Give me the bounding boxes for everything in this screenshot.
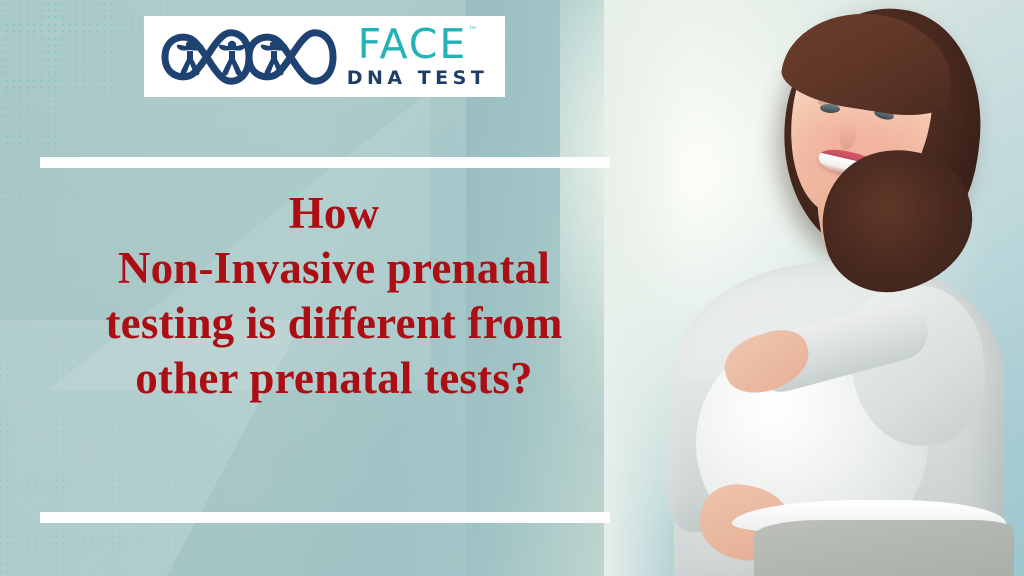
logo-tagline: DNA TEST [347, 69, 489, 88]
logo-face-row: FACE ™ [358, 24, 478, 65]
pregnant-woman-photo [604, 0, 1024, 576]
headline-line-1: How [14, 186, 654, 241]
logo-wordmark-group: FACE ™ DNA TEST [347, 24, 489, 90]
dna-helix-with-human-figures-icon [161, 27, 337, 87]
divider-rule-bottom [40, 512, 610, 523]
divider-rule-top [40, 157, 610, 168]
headline-line-4: other prenatal tests? [14, 351, 654, 406]
headline: How Non-Invasive prenatal testing is dif… [14, 186, 654, 406]
skirt [754, 520, 1014, 576]
trademark-icon: ™ [468, 27, 477, 36]
headline-line-2: Non-Invasive prenatal [14, 241, 654, 296]
banner-slide: FACE ™ DNA TEST How Non-Invasive prenata… [0, 0, 1024, 576]
logo-container[interactable]: FACE ™ DNA TEST [144, 16, 505, 97]
headline-line-3: testing is different from [14, 296, 654, 351]
logo-wordmark: FACE [358, 24, 468, 65]
